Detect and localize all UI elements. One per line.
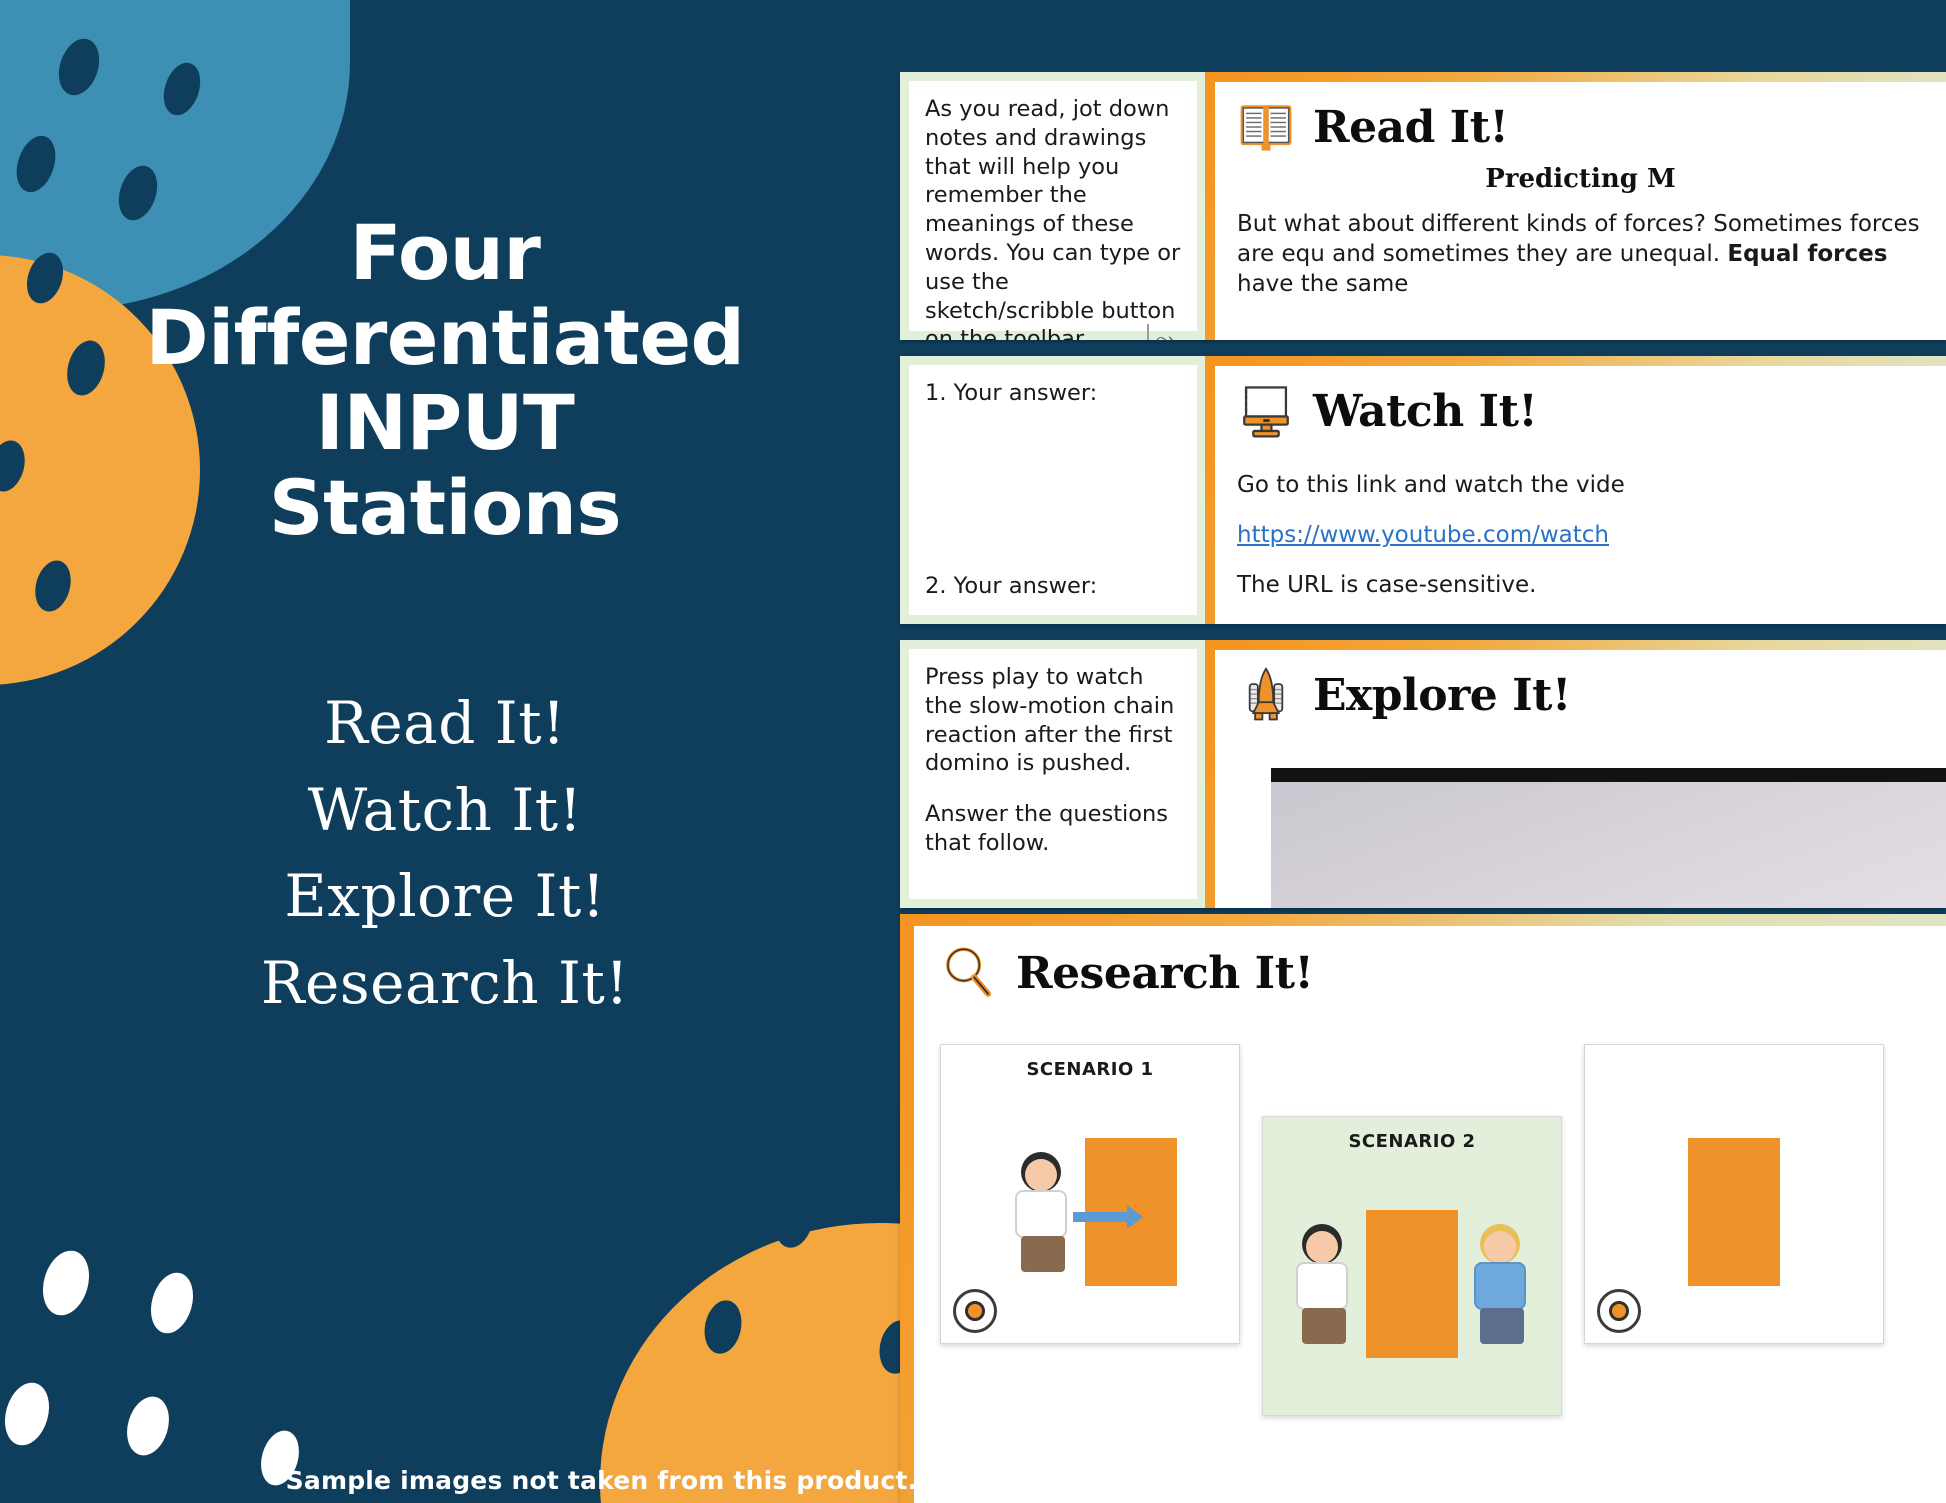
note-inner-watch: 1. Your answer: 2. Your answer:	[909, 365, 1197, 615]
magnifier-icon	[940, 944, 998, 1002]
answer-prompt-2: 2. Your answer:	[925, 572, 1181, 601]
slide-explore-it: Press play to watch the slow-motion chai…	[900, 640, 1946, 908]
note-pane-watch: 1. Your answer: 2. Your answer:	[900, 356, 1205, 624]
content-pane-watch: Watch It! Go to this link and watch the …	[1205, 356, 1946, 624]
station-name-research: Research It!	[261, 942, 629, 1024]
content-inner-watch: Watch It! Go to this link and watch the …	[1215, 366, 1946, 624]
hero-column: Four Differentiated INPUT Stations Read …	[0, 0, 890, 1503]
view-eye-icon[interactable]	[953, 1289, 997, 1333]
note-inner-explore: Press play to watch the slow-motion chai…	[909, 649, 1197, 899]
station-header-research: Research It!	[940, 944, 1920, 1002]
read-body: But what about different kinds of forces…	[1237, 210, 1924, 300]
slide-read-it: As you read, jot down notes and drawings…	[900, 72, 1946, 340]
orange-box	[1366, 1210, 1458, 1358]
station-title-explore: Explore It!	[1313, 670, 1571, 721]
explore-instruction-2: Answer the questions that follow.	[925, 800, 1181, 858]
answer-prompt-1: 1. Your answer:	[925, 379, 1181, 408]
monitor-icon	[1237, 382, 1295, 440]
open-book-icon	[1237, 98, 1295, 156]
watch-intro-text: Go to this link and watch the vide	[1237, 472, 1924, 498]
station-name-explore: Explore It!	[284, 855, 605, 937]
station-name-read: Read It!	[324, 682, 566, 764]
person-figure	[1284, 1224, 1362, 1344]
explore-instruction-1: Press play to watch the slow-motion chai…	[925, 663, 1181, 778]
slide-stack: As you read, jot down notes and drawings…	[900, 0, 1946, 1503]
scenario-card[interactable]: SCENARIO 1	[940, 1044, 1240, 1344]
force-arrow-icon	[1073, 1212, 1129, 1222]
station-title-read: Read It!	[1313, 102, 1508, 153]
youtube-link[interactable]: https://www.youtube.com/watch	[1237, 522, 1609, 548]
content-pane-explore: Explore It!	[1205, 640, 1946, 908]
note-pane-read: As you read, jot down notes and drawings…	[900, 72, 1205, 340]
rocket-icon	[1237, 666, 1295, 724]
disclaimer-caption: Sample images not taken from this produc…	[0, 1466, 1203, 1495]
note-pane-explore: Press play to watch the slow-motion chai…	[900, 640, 1205, 908]
station-title-research: Research It!	[1016, 948, 1313, 999]
scenario-label: SCENARIO 1	[941, 1059, 1239, 1080]
person-figure	[1003, 1152, 1081, 1272]
slide-research-it: Research It! SCENARIO 1	[900, 914, 1946, 1503]
station-name-watch: Watch It!	[308, 769, 583, 851]
content-inner-research: Research It! SCENARIO 1	[914, 926, 1946, 1503]
note-text-read: As you read, jot down notes and drawings…	[925, 95, 1181, 340]
station-header-explore: Explore It!	[1237, 666, 1924, 724]
watch-footnote: The URL is case-sensitive.	[1237, 572, 1924, 598]
note-inner-read: As you read, jot down notes and drawings…	[909, 81, 1197, 331]
station-header-watch: Watch It!	[1237, 382, 1924, 440]
scenario-card[interactable]: SCENARIO 2	[1262, 1116, 1562, 1416]
station-list: Read It! Watch It! Explore It! Research …	[261, 682, 629, 1023]
read-subtitle: Predicting M	[1237, 164, 1924, 194]
sketch-scribble-icon[interactable]: ⤳	[1147, 324, 1181, 340]
content-inner-read: Read It! Predicting M But what about dif…	[1215, 82, 1946, 340]
orange-box	[1688, 1138, 1780, 1286]
scenario-label: SCENARIO 2	[1263, 1131, 1561, 1152]
content-inner-explore: Explore It!	[1215, 650, 1946, 908]
scenario-strip: SCENARIO 1 SCENARIO 2	[940, 1044, 1920, 1416]
page-title: Four Differentiated INPUT Stations	[146, 210, 745, 550]
station-title-watch: Watch It!	[1313, 386, 1537, 437]
scenario-illustration	[1263, 1163, 1561, 1405]
read-body-bold-term: Equal forces	[1727, 241, 1887, 267]
video-placeholder[interactable]	[1271, 768, 1946, 908]
view-eye-icon[interactable]	[1597, 1289, 1641, 1333]
scenario-card[interactable]	[1584, 1044, 1884, 1344]
person-figure	[1462, 1224, 1540, 1344]
slide-watch-it: 1. Your answer: 2. Your answer:	[900, 356, 1946, 624]
content-pane-read: Read It! Predicting M But what about dif…	[1205, 72, 1946, 340]
station-header-read: Read It!	[1237, 98, 1924, 156]
